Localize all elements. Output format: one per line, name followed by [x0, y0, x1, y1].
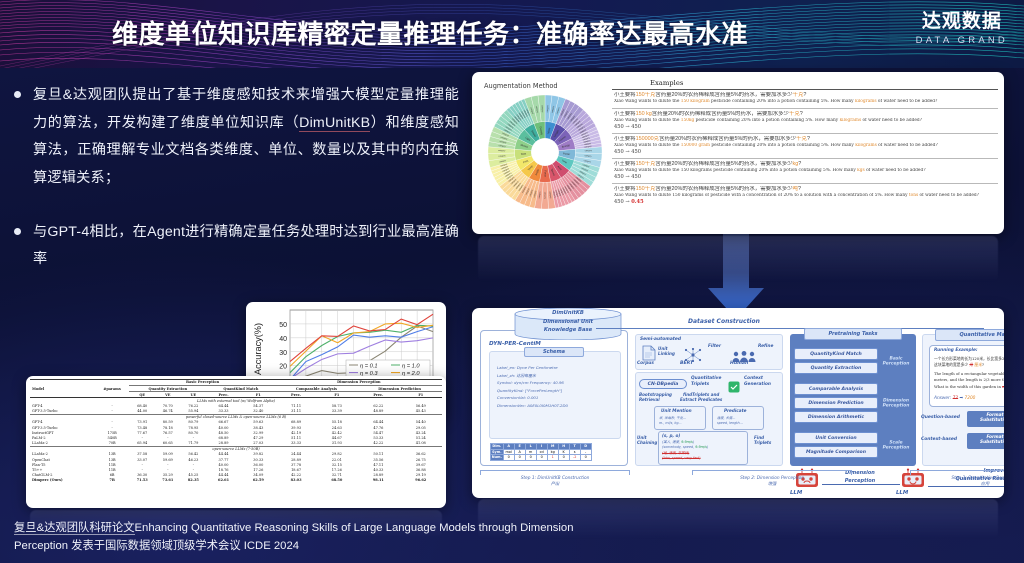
footnote-cn-prefix: 复旦&达观团队科研论文 [14, 522, 135, 535]
slide-root: 维度单位知识库精密定量推理任务：准确率达最高水准 达观数据 DATA GRAND… [0, 0, 1024, 563]
cell-value: 83.03 [276, 478, 317, 483]
kb-table-cell: Num. [491, 455, 504, 461]
kb-schema-box: Schema Label_en: Dyne Per CentimetreLabe… [489, 351, 621, 439]
pretraining-task[interactable]: Unit Conversion [794, 432, 878, 444]
kb-cylinder: DimUnitKB Dimensional Unit Knowledge Bas… [514, 308, 622, 340]
augmentation-examples-card: Augmentation Method categorycategorycate… [472, 72, 1004, 234]
pretraining-group-label: Dimension Perception [878, 398, 914, 409]
kb-table-cell: 0 [580, 455, 591, 461]
pretraining-task[interactable]: Magnitude Comparison [794, 446, 878, 458]
kb-table-cell: 1 [547, 455, 558, 461]
triplet-label: (s, p, o) [662, 433, 680, 438]
svg-text:Accuracy(%): Accuracy(%) [253, 323, 263, 375]
footnote: 复旦&达观团队科研论文Enhancing Quantitative Reason… [14, 520, 574, 555]
pretraining-tasks-title: Pretraining Tasks [804, 328, 902, 340]
example-cn: 小王要将150000克含药量20%的农药稀释成含药量5%的药水，需要加水多少千克… [614, 136, 996, 143]
triplet-rows: (某人, 速度, 9.9m/s)(somebody, speed, 9.9m/s… [662, 440, 708, 461]
bootstrapping-label: Bootstrapping Retrieval [639, 392, 672, 403]
triplet-box: (s, p, o) (某人, 速度, 9.9m/s)(somebody, spe… [658, 431, 748, 465]
logo-en-text: DATA GRAND [916, 35, 1008, 46]
qmwp-cn-line: 这块菜地的宽是多少 米 厘米? [934, 362, 1004, 368]
pretraining-task[interactable]: Dimension Prediction [794, 397, 878, 409]
step-caption-cn: 应用 [910, 481, 1004, 487]
unit-chaining-label: Unit Chaining [637, 435, 657, 446]
svg-text:category: category [585, 149, 592, 152]
example-answer: 450 → 450 [614, 149, 996, 155]
running-example-box: Running Example: 一个长方形菜地的长为120米，长比宽多2/3，… [929, 345, 1004, 407]
running-example-label: Running Example: [934, 348, 978, 353]
quantitative-triplets-label: Quantitative Triplets [691, 376, 721, 387]
qmwp-title: Quantitative Math Word Problem [935, 329, 1004, 341]
cell-value: 62.59 [241, 478, 276, 483]
footnote-venue: 发表于国际数据领域顶级学术会议 ICDE 2024 [71, 540, 299, 552]
cell-value: 62.61 [206, 478, 241, 483]
kb-schema-fields: Label_en: Dyne Per CentimetreLabel_zh: 达… [497, 364, 568, 410]
predicate-box: Predicate 速度, 长度… speed, length… [712, 406, 764, 430]
pretraining-group-label: Scale Perception [878, 440, 914, 451]
svg-text:30: 30 [279, 350, 287, 357]
pretraining-task[interactable]: QuantityKind Match [794, 348, 878, 360]
results-table-body: LLMs with external tool (w/ Wolfram Alph… [30, 398, 442, 483]
arrow-right-icon: ➡ [960, 396, 964, 401]
kb-field: Symbol: dyn/cm Frequency: 40.96 [497, 379, 568, 387]
example-en: Xiao Wang wants to dilute 150 kilograms … [614, 193, 996, 199]
example-cn: 小王要将150千克含药量20%的农药稀释成含药量5%的药水，需要加水多少kg? [614, 161, 996, 168]
corpus-label: Corpus [637, 361, 654, 366]
context-generation-label: Context Generation [744, 376, 771, 387]
kb-table-cell: 0 [525, 455, 536, 461]
kb-table-cell: 0 [514, 455, 525, 461]
cn-dbpedia-box: CN-DBpedia [639, 379, 687, 389]
examples-panel: Examples 小王要将150千克含药量20%的农药稀释成含药量5%的药水，需… [610, 77, 998, 229]
svg-text:Power: Power [563, 151, 571, 156]
svg-text:η = 0.1: η = 0.1 [360, 363, 378, 369]
sunburst-chart: categorycategorycategorycategorycategory… [486, 93, 604, 211]
step-caption: Step 1: DimUnitKB Construction产出 [480, 476, 630, 487]
bullet-item: 复旦&达观团队提出了基于维度感知技术来增强大模型定量推理能力的算法，开发构建了维… [14, 82, 459, 193]
dataset-construction-title: Dataset Construction [688, 318, 760, 325]
results-table: Model #params Basic Perception Dimension… [30, 379, 442, 483]
unit-mention-title: Unit Mention [661, 408, 692, 413]
cb-format-substitution: Format Substitution [967, 433, 1004, 449]
llm-label-mid: LLM [896, 490, 908, 496]
sunburst-label: Augmentation Method [484, 82, 558, 90]
svg-text:Data: Data [521, 151, 527, 156]
svg-text:Force: Force [543, 170, 547, 177]
bert-label: BERT [680, 361, 693, 366]
page-title: 维度单位知识库精密定量推理任务：准确率达最高水准 [112, 14, 748, 51]
qmwp-answer-label: Answer: [934, 396, 951, 401]
dimunitkb-panel: DYN-PER-CentiM Schema Label_en: Dyne Per… [480, 330, 628, 466]
bootstrapping-panel: CN-DBpedia Quantitative Triplets Context… [635, 372, 783, 466]
step-caption-cn: 增强 [692, 481, 852, 487]
find-triplets-extract-label: findTriplets and Extract Predicates [680, 392, 722, 403]
bullet-item: 与GPT-4相比，在Agent进行精确定量任务处理时达到行业最高准确率 [14, 219, 459, 274]
pretraining-task[interactable]: Comparable Analysis [794, 383, 878, 395]
step-bracket [480, 470, 630, 475]
semi-automated-panel: Semi-automated Corpus Unit Linking BERT … [635, 334, 783, 370]
cell-value: 96.62 [400, 478, 442, 483]
semi-automated-label: Semi-automated [640, 337, 681, 342]
architecture-diagram-card: DYN-PER-CentiM Schema Label_en: Dyne Per… [472, 308, 1004, 498]
step-caption-cn: 产出 [480, 481, 630, 487]
kb-table-cell: -2 [569, 455, 580, 461]
svg-text:40: 40 [279, 336, 287, 343]
example-answer: 450 → 450 [614, 174, 996, 180]
bullet-text: 与GPT-4相比，在Agent进行精确定量任务处理时达到行业最高准确率 [33, 219, 459, 274]
kb-cylinder-title: DimUnitKB [514, 310, 622, 316]
qmwp-answer-row: Answer: 72 ➡ 7200 [934, 396, 975, 401]
kb-table-cell: Sym. [491, 449, 504, 455]
kb-field: Label_zh: 达因每厘米 [497, 372, 568, 380]
kb-table-cell: 0 [503, 455, 514, 461]
context-based-label: Context-based [921, 437, 957, 442]
find-triplets-label: Find Triplets [754, 435, 771, 446]
col-params: #params [95, 380, 130, 398]
pretraining-group: QuantityKind MatchQuantity ExtractionBas… [790, 344, 916, 379]
unit-mention-box: Unit Mention 米, 米每秒, 千克… m., mi/s, kg… [654, 406, 706, 430]
svg-text:20: 20 [279, 364, 287, 371]
kb-field: ConversionVal: 0.001 [497, 394, 568, 402]
logo-cn-text: 达观数据 [916, 12, 1008, 33]
pretraining-group: Unit ConversionMagnitude ComparisonScale… [790, 428, 916, 463]
bullet-dot-icon [14, 228, 21, 235]
pretraining-task-groups: QuantityKind MatchQuantity ExtractionBas… [790, 344, 916, 463]
cell-params: 7B [95, 478, 130, 483]
example-row: 小王要将150000克含药量20%的农药稀释成含药量5%的药水，需要加水多少千克… [612, 133, 998, 158]
example-row: 小王要将150千克含药量20%的农药稀释成含药量5%的药水，需要加水多少kg?X… [612, 158, 998, 183]
brand-logo: 达观数据 DATA GRAND [916, 12, 1008, 46]
bullet-list: 复旦&达观团队提出了基于维度感知技术来增强大模型定量推理能力的算法，开发构建了维… [14, 82, 459, 300]
kb-field: DimensionVec: A0E0L0I0M1H0T-2D0 [497, 402, 568, 410]
kb-field: QuantityKind: ["ForcePerLength"] [497, 387, 568, 395]
question-based-label: Question-based [921, 415, 960, 420]
step-bracket [692, 470, 852, 475]
results-table-head: Model #params Basic Perception Dimension… [30, 380, 442, 398]
table-row: Dimperc (Ours)7B71.5373.6182.3562.6162.5… [30, 478, 442, 483]
kb-table-cell: 0 [536, 455, 547, 461]
example-row: 小王要将150 kg含药量20%的农药稀释成含药量5%的药水，需要加水多少千克?… [612, 108, 998, 133]
qmwp-en-line: What is the width of this garden in mete… [934, 384, 1004, 390]
step-caption: Step 2: Dimension Perception增强 [692, 476, 852, 487]
col-model: Model [30, 380, 95, 398]
pretraining-task[interactable]: Quantity Extraction [794, 362, 878, 374]
slide-header: 维度单位知识库精密定量推理任务：准确率达最高水准 达观数据 DATA GRAND [0, 0, 1024, 68]
kb-table-cell: 0 [558, 455, 569, 461]
svg-text:category: category [498, 149, 505, 152]
qmwp-answer-wrong: 72 [953, 396, 958, 401]
example-cn: 小王要将150 kg含药量20%的农药稀释成含药量5%的药水，需要加水多少千克? [614, 111, 996, 118]
example-cn: 小王要将150千克含药量20%的农药稀释成含药量5%的药水，需要加水多少吨? [614, 186, 996, 193]
sunburst-panel: Augmentation Method categorycategorycate… [478, 77, 610, 229]
kb-cylinder-subtitle: Dimensional Unit Knowledge Base [514, 319, 622, 335]
cell-value: 73.61 [155, 478, 181, 483]
pretraining-task[interactable]: Dimension Arithmetic [794, 411, 878, 423]
kb-dimension-table: Dim.AELIMHTDSym.molAmcdkgKs-Num.000010-2… [490, 443, 592, 461]
qmwp-en-line: meters, and the length is 2/3 more than … [934, 377, 1004, 383]
example-cn: 小王要将150千克含药量20%的农药稀释成含药量5%的药水，需要加水多少千克? [614, 92, 996, 99]
svg-text:50: 50 [279, 322, 287, 329]
cell-value: 71.53 [129, 478, 155, 483]
unit-linking-label: Unit Linking [658, 346, 675, 356]
qmwp-en-lines: The length of a rectangular vegetable ga… [934, 371, 1004, 390]
qmwp-answer-right: 7200 [964, 396, 975, 401]
example-answer: 450 → 450 [614, 124, 996, 130]
svg-text:category: category [546, 105, 549, 112]
example-answer: 450 → 0.45 [614, 199, 996, 205]
example-row: 小王要将150千克含药量20%的农药稀释成含药量5%的药水，需要加水多少千克?X… [612, 89, 998, 108]
step-bracket [910, 470, 1004, 475]
triplet-row: (him, speed, very fast) [662, 456, 708, 461]
kb-field: Label_en: Dyne Per Centimetre [497, 364, 568, 372]
filter-label: Filter [708, 344, 721, 349]
kb-table-row: Num.000010-20 [491, 455, 592, 461]
svg-text:category: category [541, 105, 544, 112]
examples-rows: 小王要将150千克含药量20%的农药稀释成含药量5%的药水，需要加水多少千克?X… [612, 89, 998, 207]
kb-schema-label: Schema [524, 347, 584, 357]
qmwp-cn-lines: 一个长方形菜地的长为120米，长比宽多2/3，这块菜地的宽是多少 米 厘米? [934, 356, 1004, 369]
predicate-body: 速度, 长度… speed, length… [717, 416, 743, 425]
llm-label-left: LLM [790, 490, 802, 496]
pretraining-group: Comparable AnalysisDimension PredictionD… [790, 379, 916, 428]
unit-mention-body: 米, 米每秒, 千克… m., mi/s, kg… [659, 416, 686, 425]
example-row: 小王要将150千克含药量20%的农药稀释成含药量5%的药水，需要加水多少吨?Xi… [612, 183, 998, 208]
pretraining-group-label: Basic Perception [878, 356, 914, 367]
connector-line-top [596, 328, 984, 329]
predicate-title: Predicate [724, 408, 746, 413]
bullet-text: 复旦&达观团队提出了基于维度感知技术来增强大模型定量推理能力的算法，开发构建了维… [33, 82, 459, 193]
refine-label: Refine [758, 344, 773, 349]
qb-format-substitution: Format Substitution [967, 411, 1004, 427]
qmwp-panel: Quantitative Math Word Problem Running E… [922, 334, 1004, 466]
examples-header: Examples [650, 79, 998, 87]
svg-text:η = 1.0: η = 1.0 [402, 363, 420, 369]
cell-model: Dimperc (Ours) [30, 478, 95, 483]
human-label: Human [730, 361, 748, 366]
context-generation-icon [728, 378, 740, 397]
bullet-dot-icon [14, 91, 21, 98]
example-en: Xiao Wang wants to dilute the 150 kilogr… [614, 99, 996, 105]
pretraining-tasks-panel: Pretraining Tasks QuantityKind MatchQuan… [790, 334, 916, 466]
step-caption: Step 3: Quantitative Reasoning应用 [910, 476, 1004, 487]
cell-value: 82.35 [181, 478, 207, 483]
results-table-card: Model #params Basic Perception Dimension… [26, 376, 446, 508]
cell-value: 98.11 [357, 478, 399, 483]
svg-text:category: category [544, 192, 547, 199]
cell-value: 68.50 [316, 478, 357, 483]
